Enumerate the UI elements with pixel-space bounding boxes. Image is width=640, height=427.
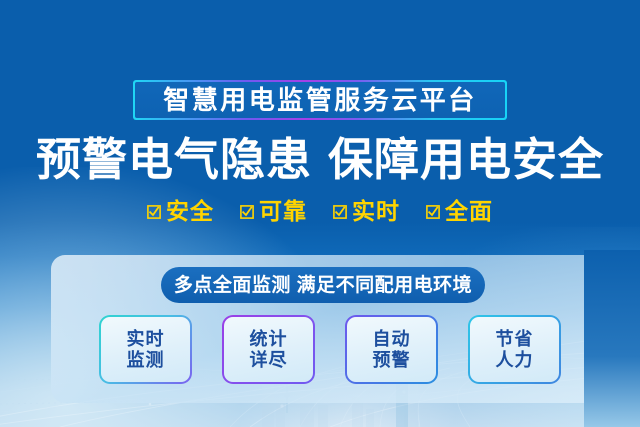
feature-card-1-inner: 实时 监测 (101, 317, 190, 382)
checkbox-checked-icon (426, 205, 440, 219)
feature-card-2-inner: 统计 详尽 (224, 317, 313, 382)
background-right-column (584, 250, 640, 427)
feature-check-row: 安全 可靠 实时 全面 (0, 200, 640, 223)
feature-card-3[interactable]: 自动 预警 (345, 315, 438, 384)
feature-check-item-4: 全面 (426, 200, 493, 223)
feature-check-label-2: 可靠 (259, 200, 307, 223)
platform-title-text: 智慧用电监管服务云平台 (163, 87, 477, 113)
checkbox-checked-icon (240, 205, 254, 219)
feature-check-item-3: 实时 (333, 200, 400, 223)
panel-subtitle-text: 多点全面监测 满足不同配用电环境 (174, 276, 472, 295)
feature-card-2[interactable]: 统计 详尽 (222, 315, 315, 384)
page-headline: 预警电气隐患保障用电安全 (0, 136, 640, 183)
feature-check-item-1: 安全 (147, 200, 214, 223)
poster-canvas: 智慧用电监管服务云平台 预警电气隐患保障用电安全 安全 可靠 实 (0, 0, 640, 427)
feature-card-3-line1: 自动 (373, 329, 411, 349)
feature-card-3-inner: 自动 预警 (347, 317, 436, 382)
headline-part-2: 保障用电安全 (328, 134, 604, 185)
feature-check-item-2: 可靠 (240, 200, 307, 223)
feature-card-4-line1: 节省 (496, 329, 534, 349)
feature-card-2-line2: 详尽 (250, 350, 288, 370)
feature-check-label-3: 实时 (352, 200, 400, 223)
platform-title-chip-inner: 智慧用电监管服务云平台 (135, 82, 505, 118)
platform-title-chip: 智慧用电监管服务云平台 (133, 80, 507, 120)
feature-card-1-line2: 监测 (127, 350, 165, 370)
feature-card-4[interactable]: 节省 人力 (468, 315, 561, 384)
feature-card-row: 实时 监测 统计 详尽 自动 预警 节省 人力 (99, 315, 561, 384)
checkbox-checked-icon (333, 205, 347, 219)
feature-card-1[interactable]: 实时 监测 (99, 315, 192, 384)
feature-card-3-line2: 预警 (373, 350, 411, 370)
headline-part-1: 预警电气隐患 (36, 134, 312, 185)
feature-check-label-4: 全面 (445, 200, 493, 223)
feature-card-4-inner: 节省 人力 (470, 317, 559, 382)
feature-card-1-line1: 实时 (127, 329, 165, 349)
feature-check-label-1: 安全 (166, 200, 214, 223)
checkbox-checked-icon (147, 205, 161, 219)
feature-card-4-line2: 人力 (496, 350, 534, 370)
panel-subtitle-pill: 多点全面监测 满足不同配用电环境 (161, 267, 485, 303)
feature-card-2-line1: 统计 (250, 329, 288, 349)
